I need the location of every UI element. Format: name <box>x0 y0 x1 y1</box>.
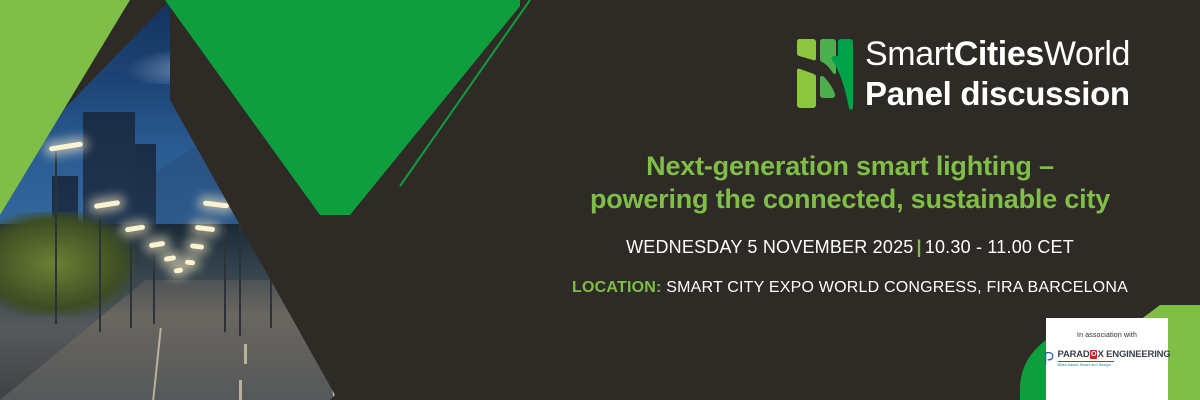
paradox-p-icon <box>1044 352 1055 365</box>
headline-line-1: Next-generation smart lighting – <box>646 151 1054 181</box>
paradox-engineering-logo: PARADOX ENGINEERING Milan based Smart an… <box>1044 349 1171 368</box>
event-date: WEDNESDAY 5 NOVEMBER 2025 <box>626 237 913 257</box>
event-datetime: WEDNESDAY 5 NOVEMBER 2025|10.30 - 11.00 … <box>520 236 1180 258</box>
paradox-wordmark: PARADOX ENGINEERING Milan based Smart an… <box>1058 349 1171 368</box>
paradox-tagline: Milan based Smart and Design <box>1058 363 1111 368</box>
brand-lockup: SmartCitiesWorld Panel discussion <box>795 33 1130 113</box>
event-headline: Next-generation smart lighting – powerin… <box>520 150 1180 216</box>
brand-part-smart: Smart <box>865 35 954 73</box>
event-location: LOCATION: SMART CITY EXPO WORLD CONGRESS… <box>520 278 1180 298</box>
association-label: In association with <box>1077 332 1137 339</box>
paradox-o-highlight: O <box>1090 350 1097 359</box>
paradox-name: PARADOX ENGINEERING <box>1058 349 1171 360</box>
headline-line-2: powering the connected, sustainable city <box>520 183 1180 216</box>
event-time: 10.30 - 11.00 CET <box>925 237 1074 257</box>
webinar-promo-banner: SmartCitiesWorld Panel discussion Next-g… <box>0 0 1200 400</box>
sponsor-panel: In association with PARADOX ENGINEERING … <box>1046 318 1168 400</box>
paradox-underline <box>1058 361 1114 362</box>
brand-part-world: World <box>1044 35 1130 73</box>
paradox-name-part-1: PARAD <box>1058 349 1090 360</box>
location-label: LOCATION: <box>572 279 662 296</box>
smartcitiesworld-logo-mark-icon <box>795 33 853 113</box>
street-lamp-post <box>153 244 155 324</box>
photo-trees-left <box>0 212 135 316</box>
datetime-separator: | <box>914 237 925 257</box>
street-lamp-post <box>130 228 132 328</box>
chevron-accent-line <box>378 0 538 190</box>
brand-name: SmartCitiesWorld <box>865 34 1130 74</box>
location-value: SMART CITY EXPO WORLD CONGRESS, FIRA BAR… <box>666 279 1128 296</box>
event-copy-block: Next-generation smart lighting – powerin… <box>520 150 1180 298</box>
road-marking <box>244 344 247 364</box>
brand-wordmark: SmartCitiesWorld Panel discussion <box>865 33 1130 113</box>
road-marking <box>239 380 242 400</box>
brand-part-cities: Cities <box>954 35 1044 73</box>
brand-subtitle: Panel discussion <box>865 74 1130 113</box>
street-lamp-post <box>224 228 226 332</box>
street-lamp-post <box>55 148 57 324</box>
paradox-name-part-2: X ENGINEERING <box>1098 349 1171 360</box>
street-lamp-post <box>99 204 101 332</box>
